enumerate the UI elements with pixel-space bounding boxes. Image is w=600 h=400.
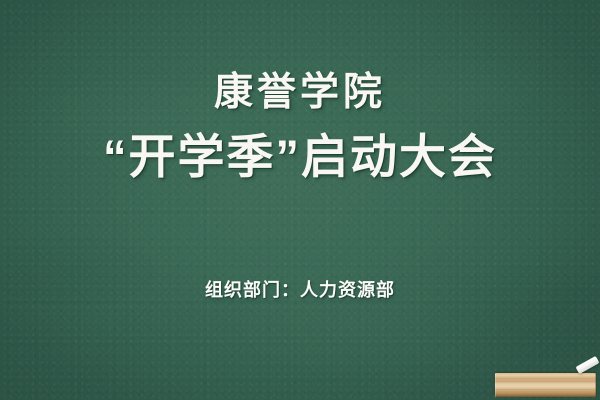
- chalk-ledge-wood: [495, 373, 596, 397]
- slide-content: 康誉学院 “开学季”启动大会 组织部门：人力资源部: [0, 0, 600, 400]
- chalk-ledge: [495, 373, 596, 397]
- chalk-ledge-grain: [495, 373, 596, 397]
- slide-subtitle: 组织部门：人力资源部: [0, 277, 600, 303]
- chalkboard-slide: 康誉学院 “开学季”启动大会 组织部门：人力资源部: [0, 0, 600, 400]
- slide-title-line-1: 康誉学院: [0, 70, 600, 116]
- slide-title-line-2: “开学季”启动大会: [0, 128, 600, 186]
